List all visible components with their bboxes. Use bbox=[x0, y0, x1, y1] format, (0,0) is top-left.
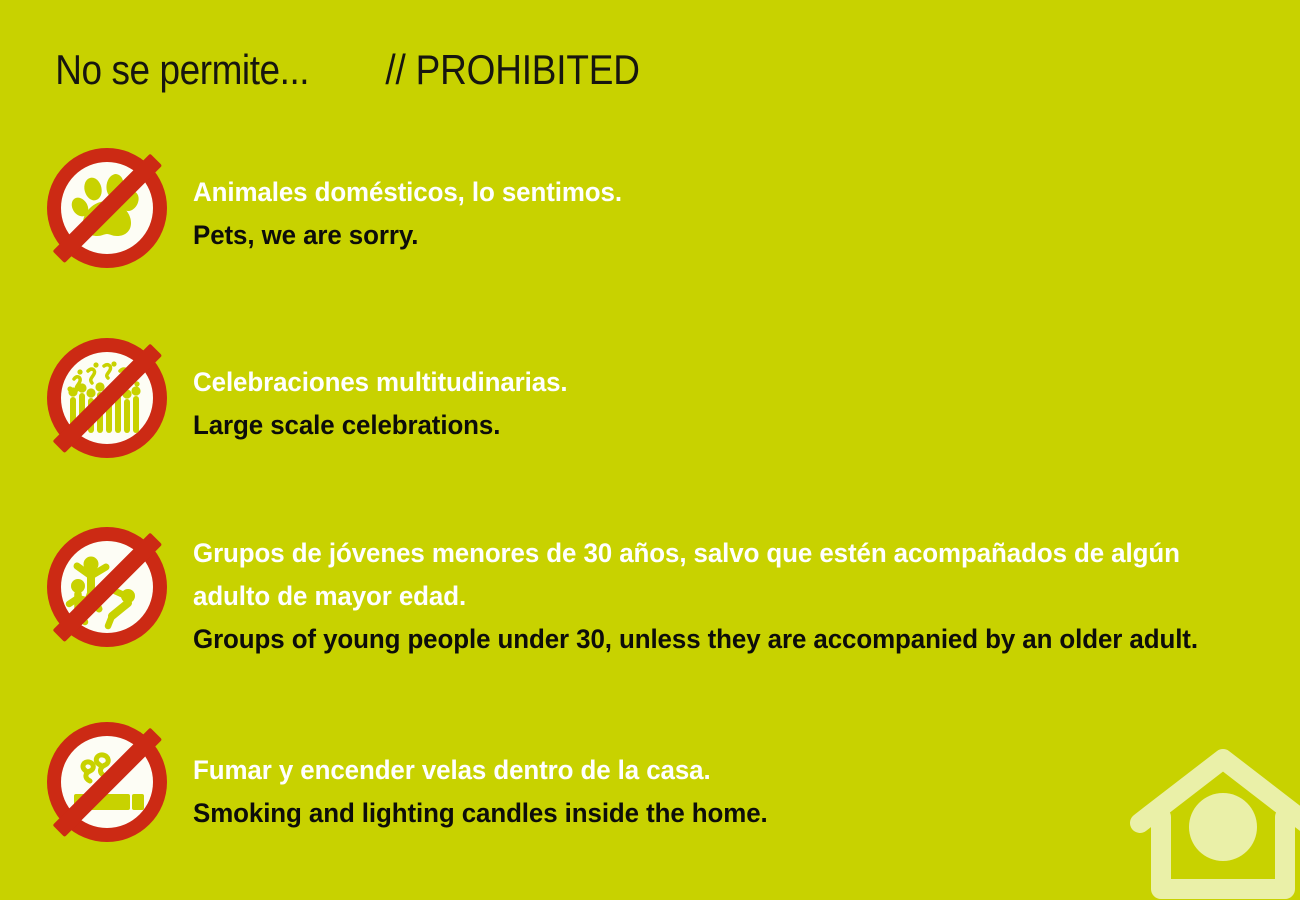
rule-text-english: Pets, we are sorry. bbox=[193, 214, 1235, 257]
rule-text-smoking: Fumar y encender velas dentro de la casa… bbox=[193, 749, 1278, 835]
no-pets-paw-icon bbox=[44, 145, 170, 271]
page-header: No se permite... // PROHIBITED bbox=[38, 46, 658, 94]
rule-text-spanish: Fumar y encender velas dentro de la casa… bbox=[193, 749, 1235, 792]
rule-text-spanish: Animales domésticos, lo sentimos. bbox=[193, 171, 1235, 214]
rule-text-spanish: Celebraciones multitudinarias. bbox=[193, 361, 1235, 404]
rule-text-young-groups: Grupos de jóvenes menores de 30 años, sa… bbox=[193, 532, 1278, 661]
rule-text-celebrations: Celebraciones multitudinarias. Large sca… bbox=[193, 361, 1278, 447]
page-title-english: // PROHIBITED bbox=[386, 46, 640, 94]
no-young-groups-people-icon bbox=[44, 524, 170, 650]
rule-text-english: Groups of young people under 30, unless … bbox=[193, 618, 1235, 661]
rule-text-english: Large scale celebrations. bbox=[193, 404, 1235, 447]
poster-page: No se permite... // PROHIBITED bbox=[0, 0, 1300, 900]
no-smoking-candles-cigarette-icon bbox=[44, 719, 170, 845]
rule-text-english: Smoking and lighting candles inside the … bbox=[193, 792, 1235, 835]
page-title-spanish: No se permite... bbox=[55, 46, 309, 94]
no-large-celebrations-crowd-icon bbox=[44, 335, 170, 461]
rule-text-spanish: Grupos de jóvenes menores de 30 años, sa… bbox=[193, 532, 1235, 618]
rule-text-pets: Animales domésticos, lo sentimos. Pets, … bbox=[193, 171, 1278, 257]
